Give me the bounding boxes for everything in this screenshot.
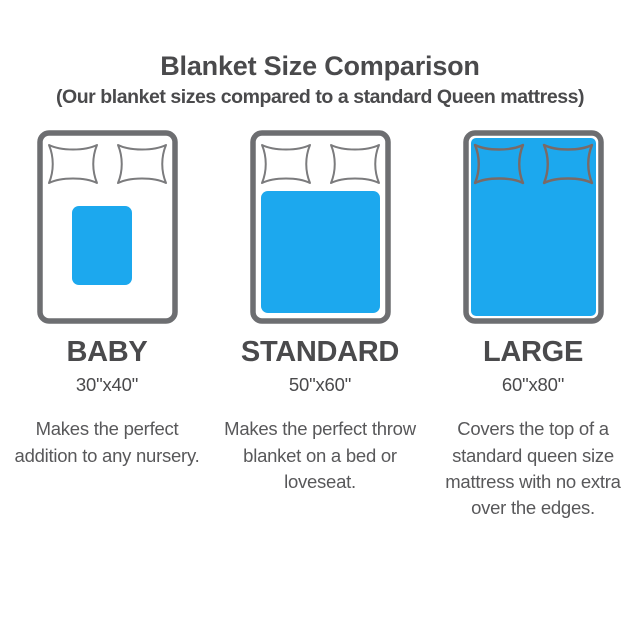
size-dimensions-standard: 50"x60" (289, 376, 351, 395)
size-dimensions-large: 60"x80" (502, 376, 564, 395)
size-dimensions-baby: 30"x40" (76, 376, 138, 395)
page-subtitle: (Our blanket sizes compared to a standar… (0, 87, 640, 107)
description-large: Covers the top of a standard queen size … (435, 416, 631, 521)
size-name-large: LARGE (483, 338, 583, 367)
bed-diagram-standard (250, 130, 391, 324)
comparison-column-baby: BABY 30"x40" Makes the perfect addition … (1, 130, 214, 469)
page-title: Blanket Size Comparison (0, 52, 640, 80)
comparison-column-large: LARGE 60"x80" Covers the top of a standa… (427, 130, 640, 522)
description-baby: Makes the perfect addition to any nurser… (9, 416, 205, 469)
blanket-area-standard (261, 191, 380, 313)
pillow-right-icon (118, 145, 166, 183)
size-name-standard: STANDARD (241, 338, 399, 367)
blanket-area-baby (72, 206, 132, 285)
blanket-size-comparison-infographic: Blanket Size Comparison (Our blanket siz… (0, 0, 640, 640)
bed-diagram-baby (37, 130, 178, 324)
pillow-left-icon (262, 145, 310, 183)
pillow-right-icon (331, 145, 379, 183)
pillow-left-icon (49, 145, 97, 183)
blanket-area-large (471, 138, 596, 316)
description-standard: Makes the perfect throw blanket on a bed… (222, 416, 418, 495)
comparison-columns: BABY 30"x40" Makes the perfect addition … (0, 130, 640, 522)
bed-diagram-large (463, 130, 604, 324)
size-name-baby: BABY (67, 338, 148, 367)
comparison-column-standard: STANDARD 50"x60" Makes the perfect throw… (214, 130, 427, 495)
header: Blanket Size Comparison (Our blanket siz… (0, 0, 640, 108)
